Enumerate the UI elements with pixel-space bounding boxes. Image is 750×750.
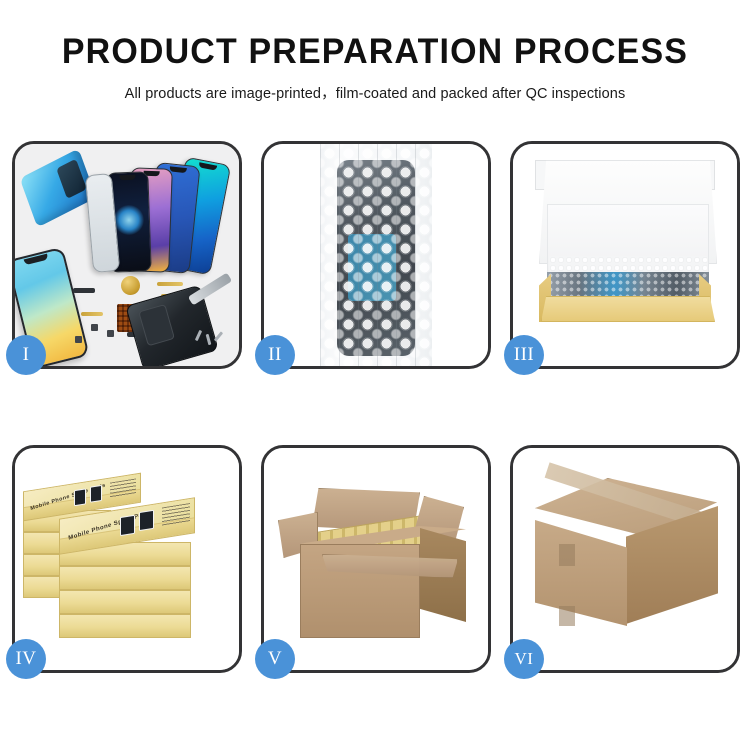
chip-icon (91, 324, 98, 331)
step-badge-6: VI (504, 639, 544, 679)
step-badge-5: V (255, 639, 295, 679)
box-item (59, 566, 191, 590)
screen-print-icon (120, 515, 135, 536)
phone-fan-group (89, 152, 239, 272)
box-stack-group: Mobile Phone Spare Parts Mobile Phone Sp… (21, 464, 233, 660)
carton-seam-tab (559, 544, 575, 566)
step-badge-2: II (255, 335, 295, 375)
box-item (59, 590, 191, 614)
wrapped-parts-row (547, 272, 709, 298)
carton-seam-tab (559, 606, 575, 626)
notch-icon (24, 254, 48, 266)
box-item (59, 614, 191, 638)
notch-icon (119, 175, 135, 181)
notch-icon (199, 162, 217, 170)
step-panel-1: I (12, 141, 242, 369)
page-subtitle: All products are image-printed，film-coat… (0, 82, 750, 103)
adhesive-sticker-icon (20, 148, 97, 227)
step-badge-1: I (6, 335, 46, 375)
screw-icon (206, 334, 212, 345)
step-panel-6: VI (510, 445, 740, 673)
phone-parts-collage-image (15, 144, 239, 366)
bubble-seam-lines (320, 144, 432, 366)
vibrator-motor-icon (121, 276, 140, 295)
step-panel-3: III (510, 141, 740, 369)
step-panel-5: V (261, 445, 491, 673)
bubble-wrapped-part-image (264, 144, 488, 366)
header: PRODUCT PREPARATION PROCESS All products… (0, 0, 750, 103)
chip-icon (107, 330, 114, 337)
screen-print-icon (90, 485, 102, 503)
carton-front-face (535, 520, 627, 626)
process-steps-grid: I II III (12, 141, 740, 686)
step-badge-4: IV (6, 639, 46, 679)
step-panel-2: II (261, 141, 491, 369)
sim-tray-icon (75, 336, 82, 343)
screws-group (197, 330, 225, 348)
box-spec-lines (110, 478, 136, 498)
flex-cable-icon (81, 312, 103, 316)
step-panel-4: Mobile Phone Spare Parts Mobile Phone Sp… (12, 445, 242, 673)
screen-print-icon (139, 510, 154, 531)
box-spec-lines (162, 503, 190, 526)
notch-icon (169, 166, 186, 173)
speaker-part-icon (73, 288, 95, 293)
open-carton-image (264, 448, 488, 670)
box-front-panel (541, 296, 715, 322)
screen-print-icon (74, 488, 86, 506)
open-inner-box-image (513, 144, 737, 366)
stacked-boxes-image: Mobile Phone Spare Parts Mobile Phone Sp… (15, 448, 239, 670)
page-title: PRODUCT PREPARATION PROCESS (11, 34, 739, 71)
flex-cable-icon (157, 282, 183, 286)
step-badge-3: III (504, 335, 544, 375)
sealed-carton-image (513, 448, 737, 670)
screw-icon (214, 331, 223, 341)
product-preparation-infographic: PRODUCT PREPARATION PROCESS All products… (0, 0, 750, 750)
